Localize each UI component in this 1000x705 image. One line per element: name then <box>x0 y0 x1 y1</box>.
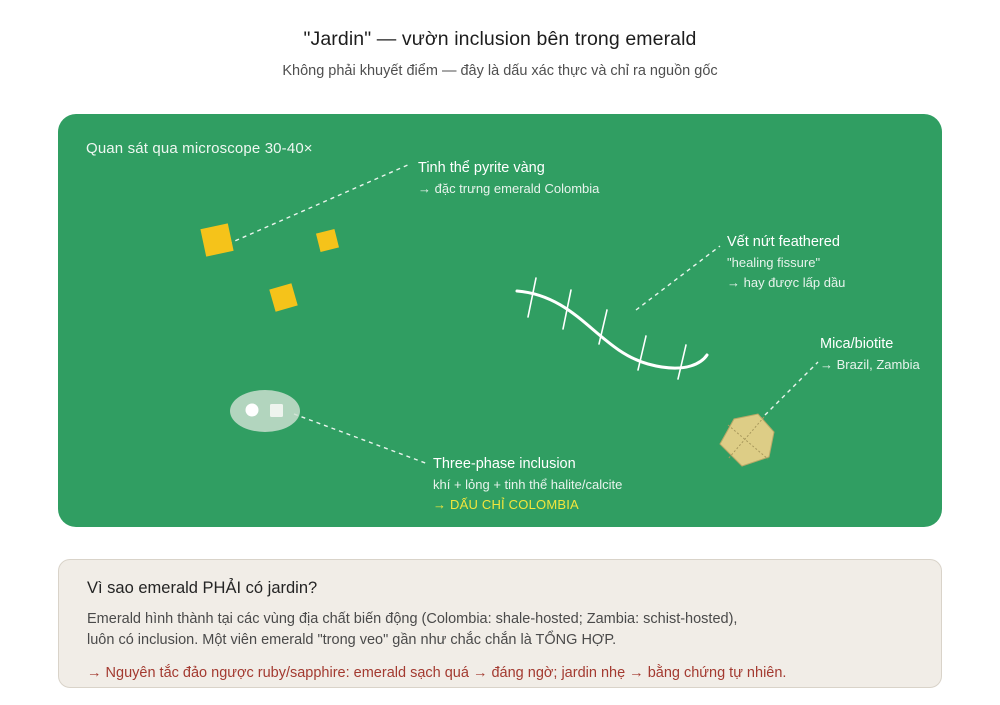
why-jardin-card: Vì sao emerald PHẢI có jardin? Emerald h… <box>58 559 942 688</box>
mica-biotite-group <box>720 414 774 466</box>
leader-line-pyrite <box>228 164 410 244</box>
halite-crystal <box>270 404 283 417</box>
page-subtitle: Không phải khuyết điểm — đây là dấu xác … <box>0 61 1000 81</box>
fissure-feather-4 <box>638 336 646 370</box>
pyrite-crystal-large <box>200 223 233 256</box>
annotation-fissure: Vết nứt feathered "healing fissure" → ha… <box>727 232 845 294</box>
why-jardin-note: → Nguyên tắc đảo ngược ruby/sapphire: em… <box>87 663 915 683</box>
gas-bubble <box>246 404 259 417</box>
annotation-pyrite-detail: → đặc trưng emerald Colombia <box>418 179 599 200</box>
pyrite-crystal-small <box>316 229 339 252</box>
annotation-three-phase: Three-phase inclusion khí + lỏng + tinh … <box>433 454 622 516</box>
pyrite-crystal-medium <box>269 283 297 311</box>
annotation-mica-detail: → Brazil, Zambia <box>820 355 920 376</box>
annotation-three-phase-detail: khí + lỏng + tinh thể halite/calcite <box>433 475 622 496</box>
annotation-mica-title: Mica/biotite <box>820 334 920 355</box>
annotation-three-phase-highlight: → DẤU CHỈ COLOMBIA <box>433 495 622 516</box>
annotation-mica: Mica/biotite → Brazil, Zambia <box>820 334 920 375</box>
why-jardin-body: Emerald hình thành tại các vùng địa chất… <box>87 609 915 651</box>
mica-platelet <box>720 414 774 466</box>
fissure-feather-1 <box>528 278 536 317</box>
leader-line-fissure <box>636 246 720 310</box>
annotation-fissure-title: Vết nứt feathered <box>727 232 845 253</box>
pyrite-crystal-group <box>200 223 339 311</box>
microscope-view-panel: Quan sát qua microscope 30-40× <box>58 114 942 527</box>
why-jardin-body-line-1: Emerald hình thành tại các vùng địa chất… <box>87 609 915 630</box>
fissure-curve <box>517 291 707 368</box>
page-header: "Jardin" — vườn inclusion bên trong emer… <box>0 26 1000 81</box>
leader-line-three-phase <box>294 414 428 464</box>
page-title: "Jardin" — vườn inclusion bên trong emer… <box>0 26 1000 52</box>
why-jardin-body-line-2: luôn có inclusion. Một viên emerald "tro… <box>87 630 915 651</box>
three-phase-inclusion-group <box>230 390 300 432</box>
annotation-fissure-note: → hay được lấp dầu <box>727 273 845 294</box>
annotation-three-phase-title: Three-phase inclusion <box>433 454 622 475</box>
annotation-pyrite-title: Tinh thể pyrite vàng <box>418 158 599 179</box>
inclusion-cavity <box>230 390 300 432</box>
why-jardin-title: Vì sao emerald PHẢI có jardin? <box>87 577 915 599</box>
healing-fissure-group <box>517 278 707 379</box>
annotation-pyrite: Tinh thể pyrite vàng → đặc trưng emerald… <box>418 158 599 199</box>
annotation-fissure-detail: "healing fissure" <box>727 253 845 274</box>
fissure-feather-5 <box>678 345 686 379</box>
